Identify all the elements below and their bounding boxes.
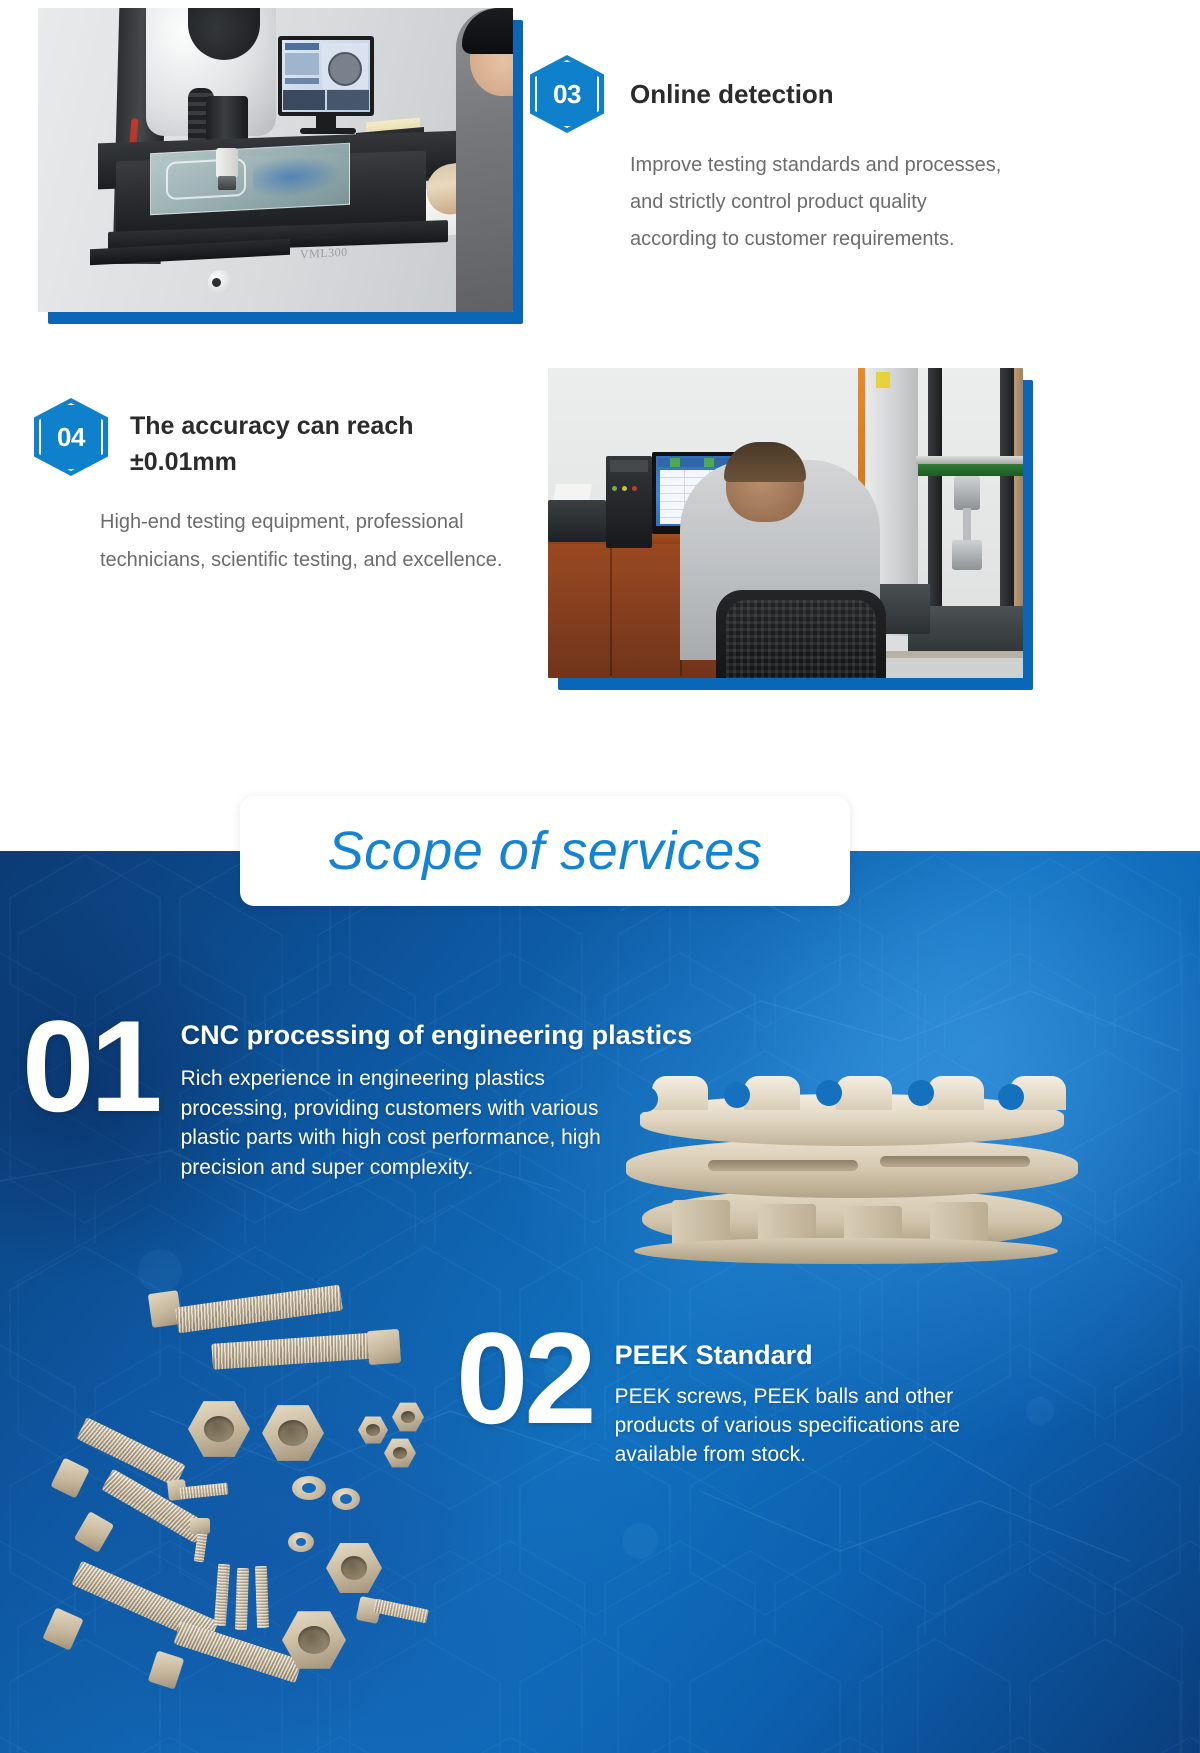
service-01-number: 01 (22, 1013, 159, 1120)
hexagon-badge-03: 03 (530, 55, 604, 133)
feature-block-04: 04 The accuracy can reach ±0.01mm High-e… (34, 398, 534, 579)
feature-03-body: Improve testing standards and processes,… (630, 147, 1010, 258)
photo-accuracy-testing-image (548, 368, 1023, 678)
badge-number-04: 04 (34, 398, 108, 476)
badge-number-03: 03 (530, 55, 604, 133)
product-image-peek-fasteners (40, 1280, 490, 1720)
service-02-number: 02 (456, 1325, 593, 1432)
service-item-01: 01 CNC processing of engineering plastic… (22, 1013, 682, 1182)
scope-heading: Scope of services (328, 820, 763, 882)
feature-block-03: 03 Online detection Improve testing stan… (530, 55, 1090, 258)
feature-04-body: High-end testing equipment, professional… (100, 503, 530, 579)
page-root: VML300 03 Online detection (0, 0, 1200, 1753)
photo-online-detection: VML300 (38, 8, 523, 324)
service-item-02: 02 PEEK Standard PEEK screws, PEEK balls… (456, 1325, 1076, 1470)
hexagon-badge-04: 04 (34, 398, 108, 476)
scene-tensile-lab (548, 368, 1023, 678)
feature-04-title: The accuracy can reach ±0.01mm (130, 398, 470, 481)
service-01-body: Rich experience in engineering plastics … (181, 1064, 611, 1182)
service-02-body: PEEK screws, PEEK balls and other produc… (615, 1383, 1020, 1470)
feature-03-title: Online detection (630, 55, 834, 112)
features-section: VML300 03 Online detection (0, 0, 1200, 851)
service-02-title: PEEK Standard (615, 1339, 1020, 1371)
scope-of-services-card: Scope of services (240, 796, 850, 906)
photo-accuracy-testing (548, 368, 1033, 690)
photo-online-detection-image: VML300 (38, 8, 513, 312)
service-01-title: CNC processing of engineering plastics (181, 1019, 693, 1051)
scene-optical-measuring: VML300 (38, 8, 513, 312)
machine-model-label: VML300 (300, 245, 348, 262)
